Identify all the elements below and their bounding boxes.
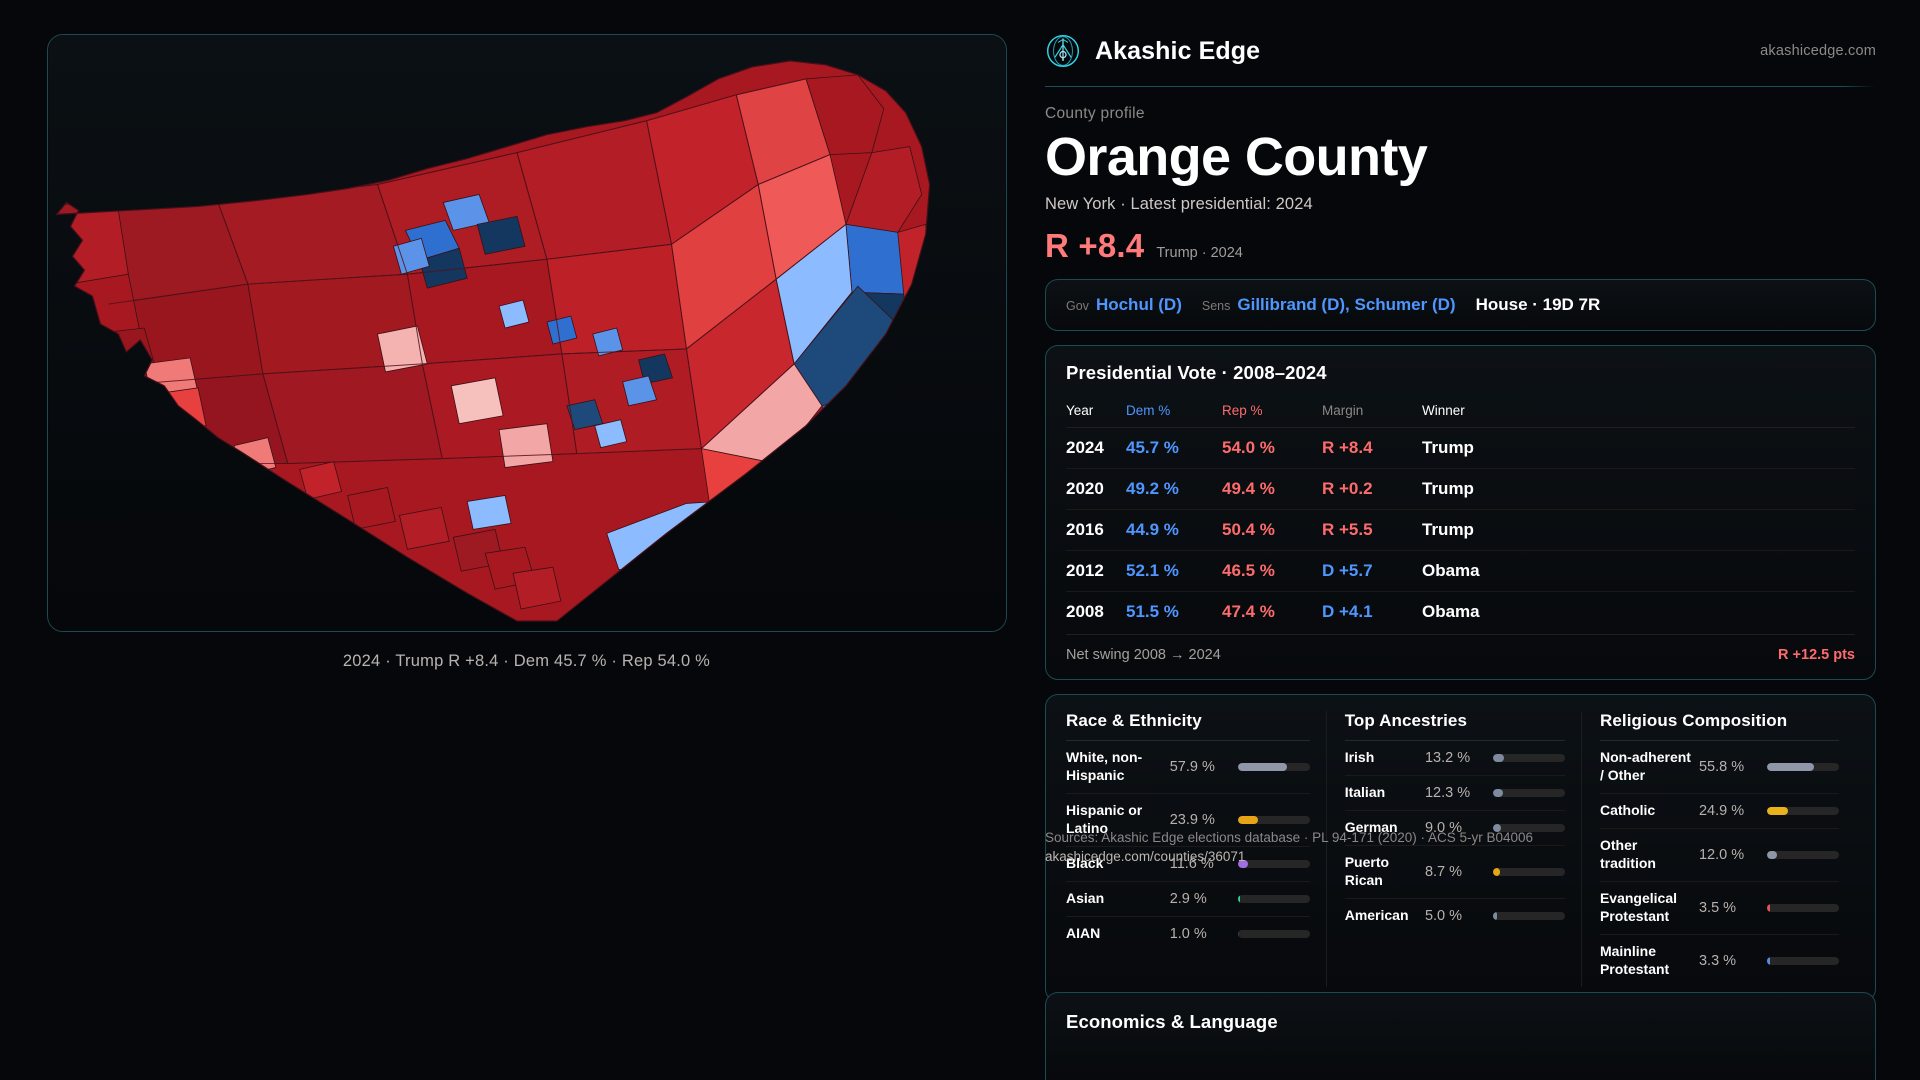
demographics-row: Mainline Protestant3.3 % [1600, 934, 1839, 987]
cell-margin: R +8.4 [1322, 428, 1422, 469]
sources-url[interactable]: akashicedge.com/counties/36071 [1045, 847, 1533, 866]
net-swing-value: R +12.5 pts [1778, 647, 1855, 663]
net-swing-label: Net swing 2008 → 2024 [1066, 647, 1221, 663]
demographics-value: 12.0 % [1699, 847, 1759, 863]
county-profile-page: 2024 · Trump R +8.4 · Dem 45.7 % · Rep 5… [0, 0, 1920, 1080]
demographics-row: Asian2.9 % [1066, 881, 1310, 916]
akashic-emblem-icon [1045, 33, 1081, 69]
cell-margin: R +0.2 [1322, 469, 1422, 510]
page-title: Orange County [1045, 127, 1876, 187]
demographics-row: Evangelical Protestant3.5 % [1600, 881, 1839, 934]
demographics-column-title: Religious Composition [1600, 711, 1839, 731]
cell-winner: Trump [1422, 469, 1855, 510]
table-row[interactable]: 200851.5 %47.4 %D +4.1Obama [1066, 592, 1855, 633]
table-header-row: YearDem %Rep %MarginWinner [1066, 396, 1855, 428]
demographics-value: 24.9 % [1699, 803, 1759, 819]
demographics-value: 8.7 % [1425, 864, 1485, 880]
page-subtitle: New York · Latest presidential: 2024 [1045, 195, 1876, 214]
margin-note: Trump · 2024 [1156, 245, 1243, 261]
demographics-value: 5.0 % [1425, 908, 1485, 924]
demographics-label: Other tradition [1600, 837, 1691, 873]
demographics-bar [1493, 868, 1565, 876]
demographics-label: Asian [1066, 890, 1162, 908]
cell-rep-pct: 54.0 % [1222, 428, 1322, 469]
demographics-row: Other tradition12.0 % [1600, 828, 1839, 881]
cell-margin: R +5.5 [1322, 510, 1422, 551]
gov-label: Gov [1066, 299, 1089, 313]
headline-margin: R +8.4 Trump · 2024 [1045, 227, 1876, 265]
demographics-label: AIAN [1066, 925, 1162, 943]
demographics-bar [1767, 763, 1839, 771]
column-header-margin: Margin [1322, 396, 1422, 428]
demographics-row: AIAN1.0 % [1066, 916, 1310, 951]
cell-rep-pct: 46.5 % [1222, 551, 1322, 592]
demographics-value: 13.2 % [1425, 750, 1485, 766]
cell-margin: D +4.1 [1322, 592, 1422, 633]
brand-name: Akashic Edge [1095, 37, 1260, 66]
sens-label: Sens [1202, 299, 1231, 313]
demographics-bar [1767, 807, 1839, 815]
cell-year: 2012 [1066, 551, 1126, 592]
demographics-label: Italian [1345, 784, 1417, 802]
demographics-row: Non-adherent / Other55.8 % [1600, 740, 1839, 793]
demographics-label: American [1345, 907, 1417, 925]
table-row[interactable]: 202445.7 %54.0 %R +8.4Trump [1066, 428, 1855, 469]
demographics-row: White, non-Hispanic57.9 % [1066, 740, 1310, 793]
cell-dem-pct: 44.9 % [1126, 510, 1222, 551]
cell-rep-pct: 50.4 % [1222, 510, 1322, 551]
table-row[interactable]: 202049.2 %49.4 %R +0.2Trump [1066, 469, 1855, 510]
cell-dem-pct: 45.7 % [1126, 428, 1222, 469]
cell-year: 2008 [1066, 592, 1126, 633]
demographics-value: 3.3 % [1699, 953, 1759, 969]
presidential-vote-table: YearDem %Rep %MarginWinner 202445.7 %54.… [1066, 396, 1855, 632]
economics-title: Economics & Language [1066, 1011, 1855, 1033]
gov-value[interactable]: Hochul (D) [1096, 295, 1182, 315]
demographics-value: 3.5 % [1699, 900, 1759, 916]
demographics-bar [1238, 763, 1310, 771]
demographics-bar [1767, 851, 1839, 859]
demographics-label: Evangelical Protestant [1600, 890, 1691, 926]
demographics-value: 57.9 % [1170, 759, 1230, 775]
cell-rep-pct: 47.4 % [1222, 592, 1322, 633]
demographics-bar [1238, 930, 1310, 938]
demographics-value: 1.0 % [1170, 926, 1230, 942]
page-kicker: County profile [1045, 105, 1876, 123]
demographics-value: 12.3 % [1425, 785, 1485, 801]
demographics-label: Irish [1345, 749, 1417, 767]
demographics-bar [1493, 789, 1565, 797]
demographics-column: Religious CompositionNon-adherent / Othe… [1581, 711, 1855, 986]
sources-line-1: Sources: Akashic Edge elections database… [1045, 828, 1533, 847]
cell-dem-pct: 51.5 % [1126, 592, 1222, 633]
demographics-column-title: Top Ancestries [1345, 711, 1565, 731]
house-delegation: House · 19D 7R [1476, 295, 1601, 315]
net-swing-row: Net swing 2008 → 2024 R +12.5 pts [1066, 634, 1855, 667]
table-row[interactable]: 201252.1 %46.5 %D +5.7Obama [1066, 551, 1855, 592]
demographics-bar [1493, 912, 1565, 920]
demographics-bar [1238, 895, 1310, 903]
cell-year: 2020 [1066, 469, 1126, 510]
margin-value: R +8.4 [1045, 227, 1144, 265]
cell-dem-pct: 49.2 % [1126, 469, 1222, 510]
brand-header: Akashic Edge akashicedge.com [1045, 30, 1876, 72]
cell-winner: Obama [1422, 551, 1855, 592]
precinct-map-panel[interactable] [47, 34, 1007, 632]
demographics-value: 2.9 % [1170, 891, 1230, 907]
profile-column: Akashic Edge akashicedge.com County prof… [1035, 0, 1920, 1080]
demographics-label: Non-adherent / Other [1600, 749, 1691, 785]
cell-year: 2024 [1066, 428, 1126, 469]
demographics-bar [1767, 904, 1839, 912]
cell-winner: Trump [1422, 510, 1855, 551]
cell-winner: Obama [1422, 592, 1855, 633]
demographics-label: White, non-Hispanic [1066, 749, 1162, 785]
presidential-title: Presidential Vote · 2008–2024 [1066, 362, 1855, 384]
column-header-winner: Winner [1422, 396, 1855, 428]
table-row[interactable]: 201644.9 %50.4 %R +5.5Trump [1066, 510, 1855, 551]
column-header-year: Year [1066, 396, 1126, 428]
economics-language-card[interactable]: Economics & Language [1045, 992, 1876, 1080]
cell-rep-pct: 49.4 % [1222, 469, 1322, 510]
demographics-row: Irish13.2 % [1345, 740, 1565, 775]
column-header-dem: Dem % [1126, 396, 1222, 428]
header-divider [1045, 86, 1876, 87]
cell-winner: Trump [1422, 428, 1855, 469]
column-header-rep: Rep % [1222, 396, 1322, 428]
map-caption: 2024 · Trump R +8.4 · Dem 45.7 % · Rep 5… [343, 652, 710, 671]
demographics-bar [1767, 957, 1839, 965]
demographics-value: 55.8 % [1699, 759, 1759, 775]
officials-bar: Gov Hochul (D) Sens Gillibrand (D), Schu… [1045, 279, 1876, 331]
precinct-choropleth-map[interactable] [48, 35, 1006, 631]
cell-dem-pct: 52.1 % [1126, 551, 1222, 592]
sources-note: Sources: Akashic Edge elections database… [1045, 828, 1533, 866]
demographics-row: Italian12.3 % [1345, 775, 1565, 810]
demographics-label: Catholic [1600, 802, 1691, 820]
demographics-row: American5.0 % [1345, 898, 1565, 933]
demographics-list: Non-adherent / Other55.8 %Catholic24.9 %… [1600, 740, 1839, 986]
sens-value[interactable]: Gillibrand (D), Schumer (D) [1237, 295, 1455, 315]
demographics-value: 23.9 % [1170, 812, 1230, 828]
demographics-bar [1493, 754, 1565, 762]
cell-margin: D +5.7 [1322, 551, 1422, 592]
demographics-column-title: Race & Ethnicity [1066, 711, 1310, 731]
demographics-label: Mainline Protestant [1600, 943, 1691, 979]
cell-year: 2016 [1066, 510, 1126, 551]
presidential-vote-card: Presidential Vote · 2008–2024 YearDem %R… [1045, 345, 1876, 680]
demographics-bar [1238, 816, 1310, 824]
map-column: 2024 · Trump R +8.4 · Dem 45.7 % · Rep 5… [0, 0, 1035, 1080]
brand-url[interactable]: akashicedge.com [1760, 43, 1876, 59]
demographics-row: Catholic24.9 % [1600, 793, 1839, 828]
